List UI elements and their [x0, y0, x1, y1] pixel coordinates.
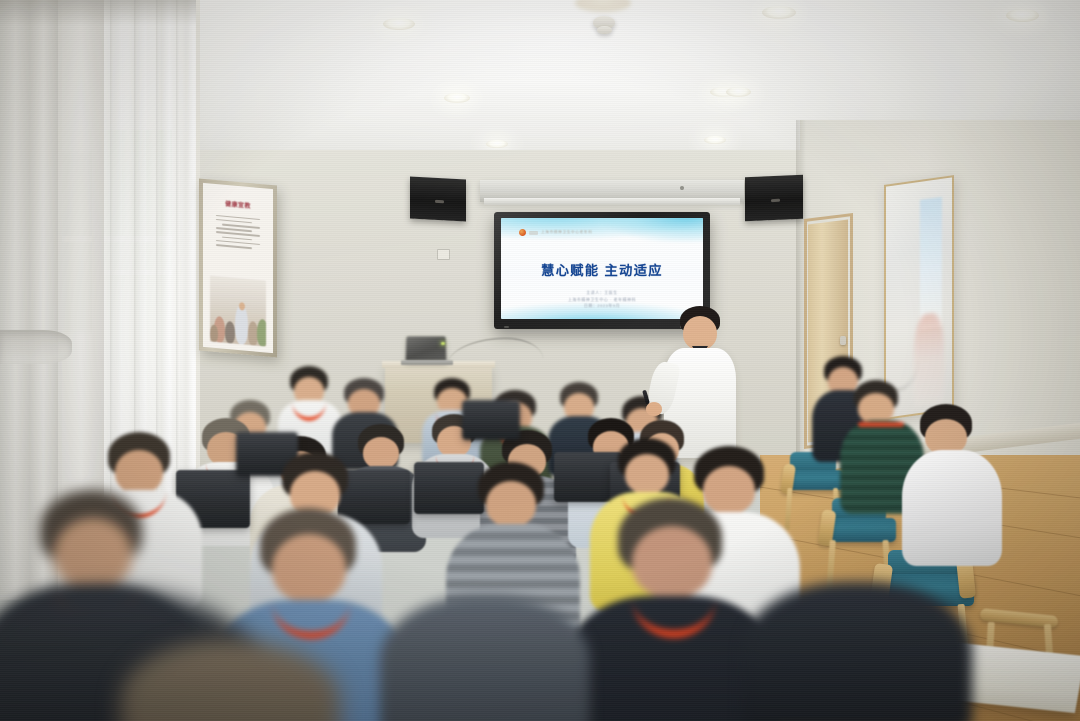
presenter-head: [683, 316, 717, 350]
laptop-indicator-icon: [441, 342, 445, 345]
laptop-base: [401, 360, 453, 365]
screen-housing-button[interactable]: [680, 186, 684, 190]
curtain-tieback[interactable]: [0, 330, 72, 364]
lanyard: [858, 422, 904, 427]
speaker-led-icon: [771, 199, 780, 202]
speaker-led-icon: [435, 200, 444, 203]
wall-outlet-icon: [437, 249, 450, 260]
presentation-slide: 上海市精神卫生中心老年科 慧心赋能 主动适应 主讲人：王医生 上海市精神卫生中心…: [501, 218, 703, 319]
projector-screen-lip: [484, 198, 740, 205]
poster-body-text: [210, 211, 266, 252]
downlight-icon: [1006, 9, 1039, 22]
slide-header-org: 上海市精神卫生中心老年科: [541, 230, 593, 235]
slide-subtitle: 主讲人：王医生 上海市精神卫生中心 · 老年精神科 日期：2023年9月: [501, 290, 703, 310]
slide-decor-wave: [602, 218, 703, 242]
logo-wordmark: [529, 231, 538, 235]
slide-subtitle-line: 日期：2023年9月: [501, 303, 703, 310]
downlight-icon: [486, 140, 508, 148]
presenter-hand: [646, 402, 662, 416]
conference-chair[interactable]: [338, 470, 410, 524]
conference-chair[interactable]: [414, 462, 484, 514]
downlight-icon: [704, 136, 726, 144]
downlight-icon: [762, 6, 796, 19]
wall-speaker-right: [745, 175, 803, 222]
smoke-detector-icon: [597, 26, 612, 34]
photo-scene: 健康宣教: [0, 0, 1080, 721]
interactive-display-panel[interactable]: 上海市精神卫生中心老年科 慧心赋能 主动适应 主讲人：王医生 上海市精神卫生中心…: [494, 212, 710, 329]
downlight-icon: [444, 93, 470, 103]
display-ir-sensor-icon: [504, 326, 509, 328]
conference-chair[interactable]: [462, 400, 520, 440]
poster-photo: [210, 275, 266, 346]
slide-logo-row: 上海市精神卫生中心老年科: [519, 229, 593, 236]
poster-mat: 健康宣教: [203, 183, 273, 353]
wall-speaker-left: [410, 177, 466, 222]
organization-logo-icon: [519, 229, 526, 236]
curtain-rod-shadow: [0, 0, 196, 26]
mirror-reflection-person: [914, 311, 944, 407]
poster-title: 健康宣教: [210, 197, 266, 211]
slide-title: 慧心赋能 主动适应: [501, 260, 703, 279]
mirror-reflection-window: [920, 197, 942, 330]
downlight-icon: [726, 87, 751, 97]
laptop-icon[interactable]: [406, 336, 447, 362]
door-handle-icon[interactable]: [840, 336, 846, 345]
wall-poster-frame: 健康宣教: [199, 178, 277, 357]
downlight-icon: [383, 18, 415, 30]
